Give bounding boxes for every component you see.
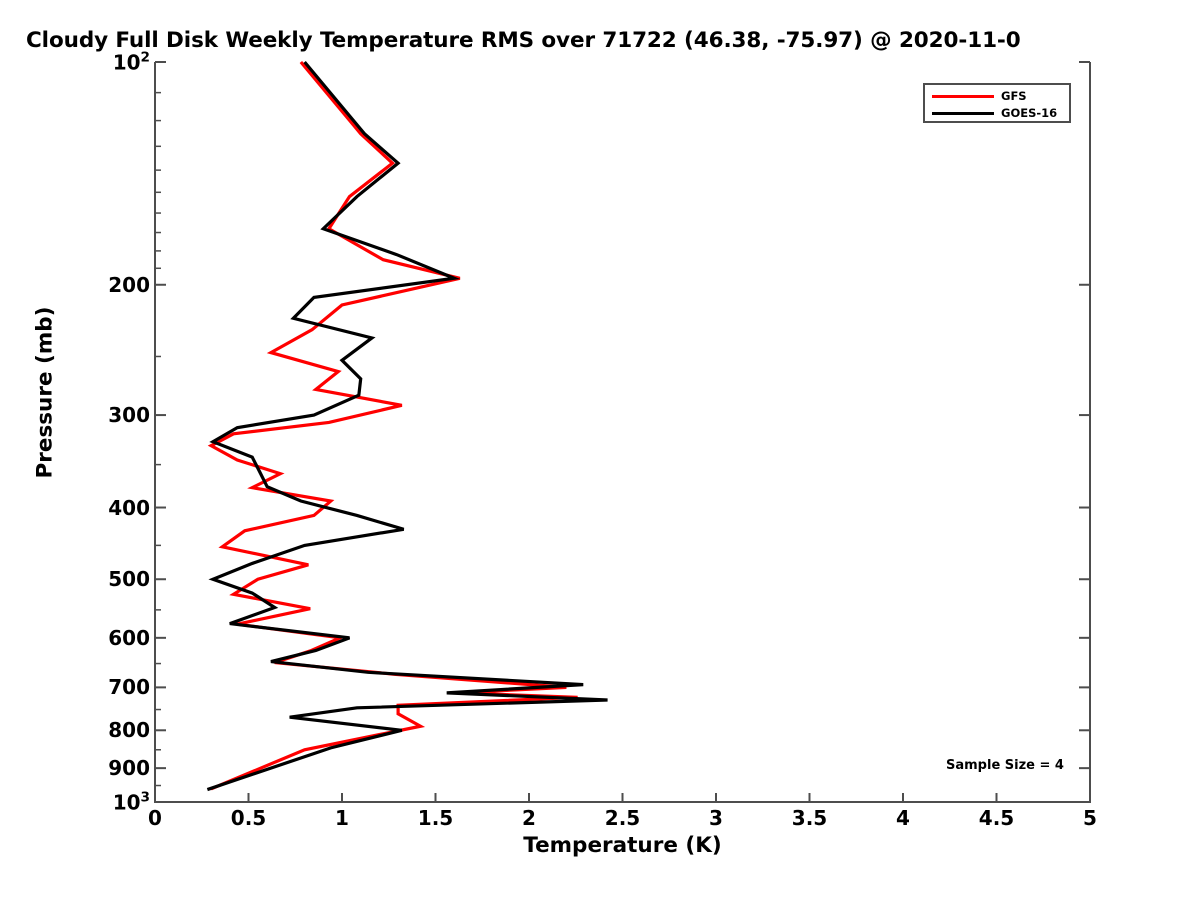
axes-frame [155,62,1090,802]
series-line-goes-16 [207,62,607,790]
chart-figure: Cloudy Full Disk Weekly Temperature RMS … [0,0,1200,900]
chart-legend: GFSGOES-16 [923,83,1071,123]
legend-item: GOES-16 [925,105,1069,122]
legend-label: GOES-16 [1001,106,1057,120]
sample-size-annotation: Sample Size = 4 [946,758,1064,773]
legend-color-swatch [932,112,994,115]
legend-label: GFS [1001,89,1027,103]
legend-color-swatch [932,95,994,98]
legend-item: GFS [925,88,1069,105]
